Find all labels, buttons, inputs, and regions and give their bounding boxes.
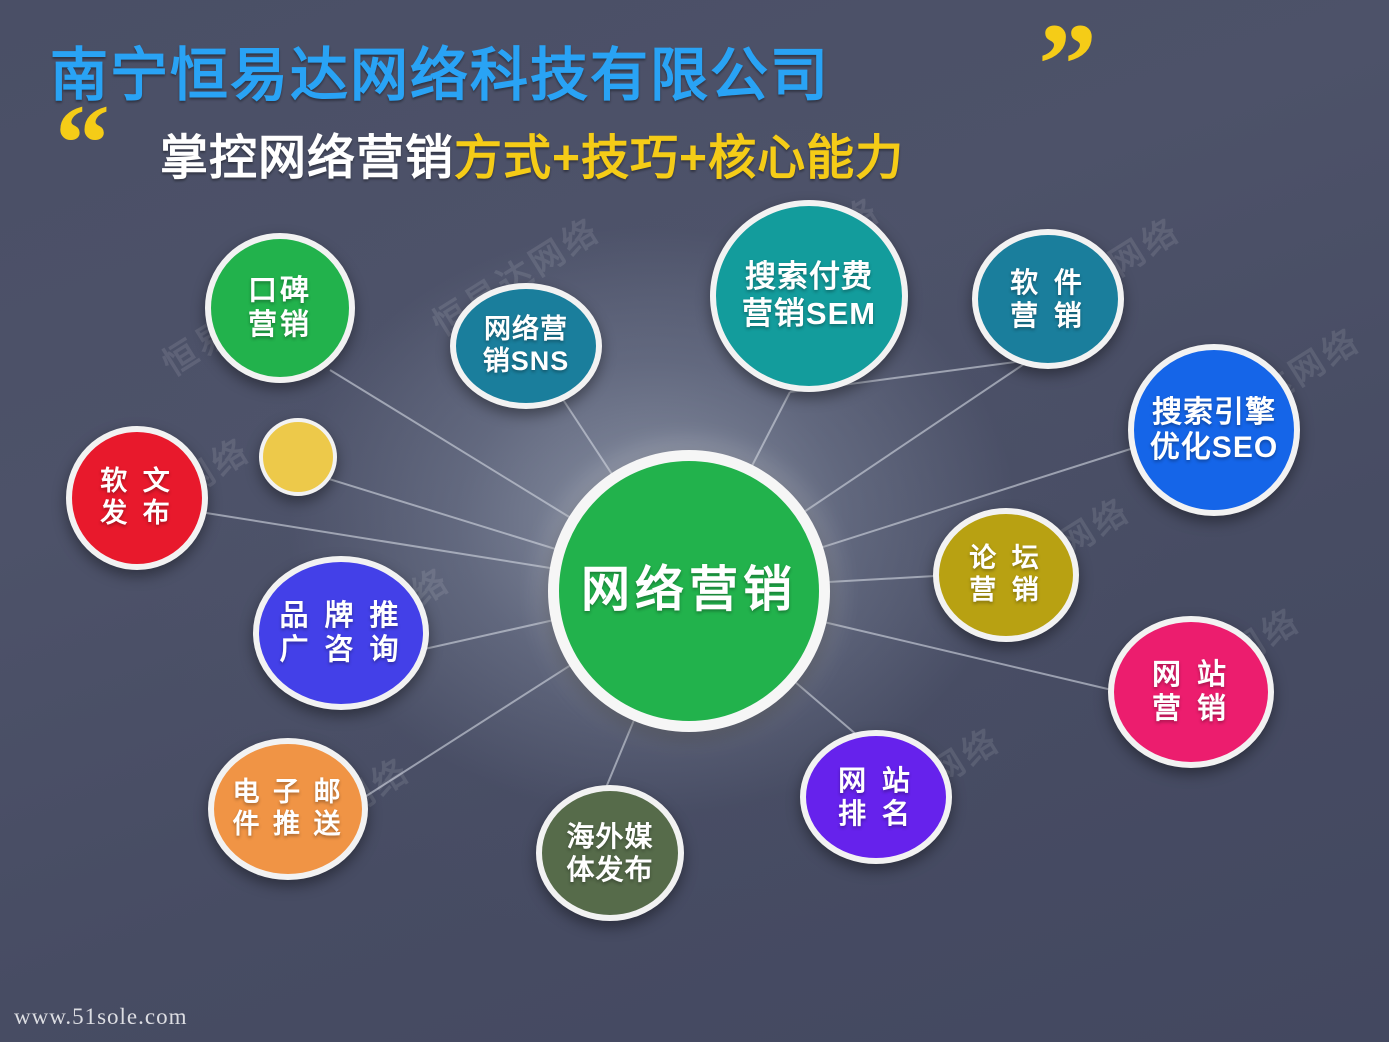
node-sem[interactable]: 搜索付费营销SEM: [710, 200, 908, 392]
quote-open-icon: “: [55, 88, 110, 198]
node-email-marketing[interactable]: 电 子 邮件 推 送: [208, 738, 368, 880]
node-forum-marketing[interactable]: 论 坛营 销: [933, 508, 1079, 642]
poster-canvas: 恒易达网络 恒易达网络 恒易达网络 恒易达网络 恒易达网络 恒易达网络 恒易达网…: [0, 0, 1389, 1042]
node-label: 软 文发 布: [94, 466, 180, 530]
node-label: 搜索引擎优化SEO: [1144, 395, 1284, 466]
node-label: 网络营销SNS: [477, 314, 576, 378]
subtitle-primary: 掌控网络营销: [160, 132, 454, 185]
node-label: 口碑营销: [242, 274, 318, 342]
node-label: 网 站排 名: [832, 764, 920, 830]
poster-header: 南宁恒易达网络科技有限公司 ” “ 掌控网络营销方式+技巧+核心能力: [0, 0, 1389, 196]
node-label: 软 件营 销: [1004, 266, 1092, 332]
node-center-network-marketing[interactable]: 网络营销: [548, 450, 830, 732]
node-website-marketing[interactable]: 网 站营 销: [1108, 616, 1274, 768]
node-brand-promotion[interactable]: 品 牌 推广 咨 询: [253, 556, 429, 710]
subtitle-line: 掌控网络营销方式+技巧+核心能力: [160, 118, 904, 188]
node-seo[interactable]: 搜索引擎优化SEO: [1128, 344, 1300, 516]
node-label: 网络营销: [575, 562, 803, 620]
node-article-publishing[interactable]: 软 文发 布: [66, 426, 208, 570]
node-koubei[interactable]: 口碑营销: [205, 233, 355, 383]
subtitle-accent: 方式+技巧+核心能力: [454, 132, 904, 185]
node-label: 论 坛营 销: [963, 543, 1049, 607]
node-label: 网 站营 销: [1146, 658, 1236, 726]
node-label: 品 牌 推广 咨 询: [273, 599, 408, 667]
site-url-watermark: www.51sole.com: [14, 1004, 187, 1030]
node-overseas-media[interactable]: 海外媒体发布: [536, 785, 684, 921]
node-software-marketing[interactable]: 软 件营 销: [972, 229, 1124, 369]
company-title: 南宁恒易达网络科技有限公司: [50, 28, 830, 112]
node-label: 海外媒体发布: [560, 820, 659, 886]
quote-close-icon: ”: [1038, 6, 1097, 124]
node-website-ranking[interactable]: 网 站排 名: [800, 730, 952, 864]
node-sns[interactable]: 网络营销SNS: [450, 283, 602, 409]
node-blank-dot[interactable]: [259, 418, 337, 496]
node-label: 搜索付费营销SEM: [736, 259, 882, 332]
node-label: 电 子 邮件 推 送: [226, 777, 349, 841]
